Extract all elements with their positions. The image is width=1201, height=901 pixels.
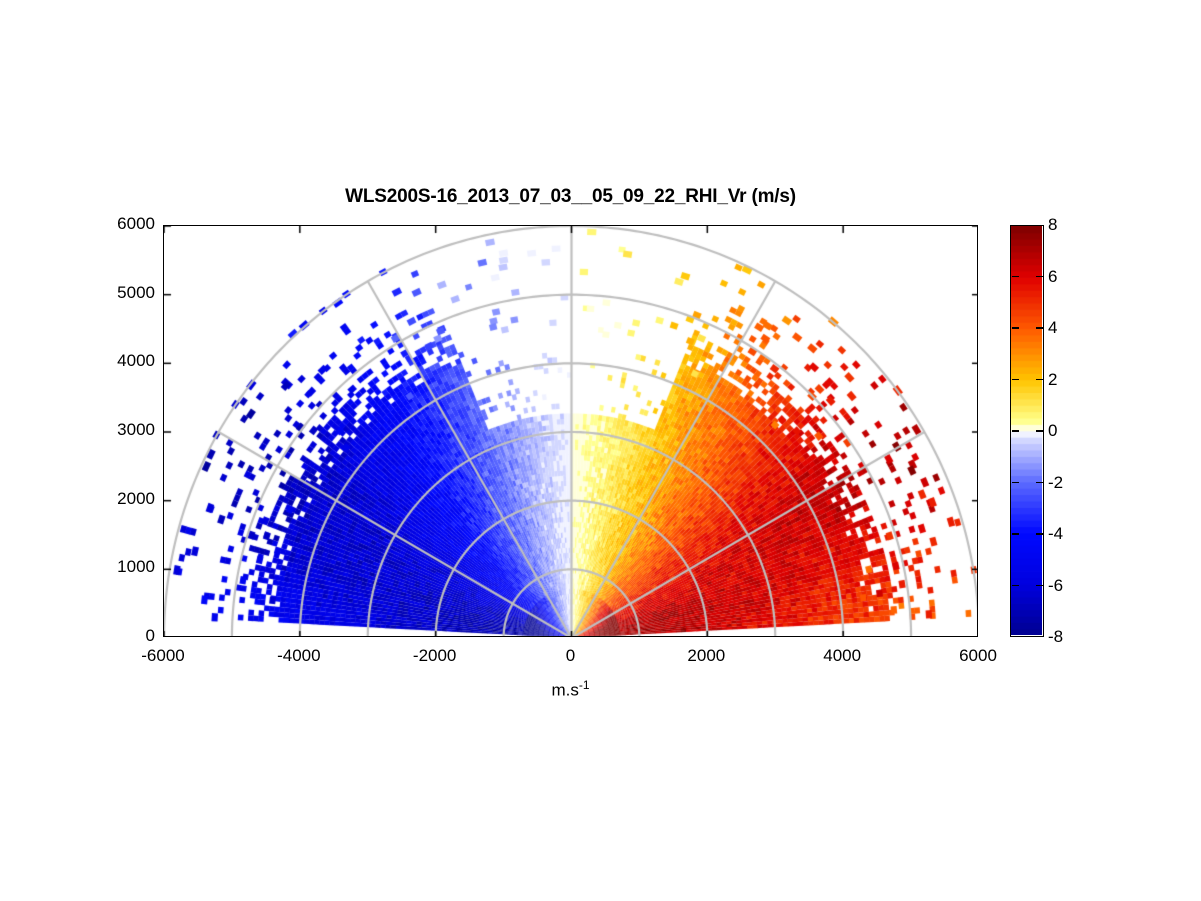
colorbar-tick-mark	[1012, 482, 1019, 484]
colorbar-tick-mark	[1036, 430, 1043, 432]
y-tick-label: 4000	[91, 351, 155, 371]
y-tick-label: 6000	[91, 214, 155, 234]
colorbar-tick-label: 2	[1048, 370, 1057, 390]
colorbar-tick-mark	[1012, 276, 1019, 278]
colorbar-tick-mark	[1012, 533, 1019, 535]
x-tick-label: 2000	[646, 646, 766, 666]
x-tick-label: -4000	[239, 646, 359, 666]
colorbar-tick-label: -4	[1048, 524, 1063, 544]
x-tick-label: 4000	[782, 646, 902, 666]
colorbar-tick-label: -8	[1048, 627, 1063, 647]
y-tick-label: 1000	[91, 557, 155, 577]
x-axis-title-exponent: -1	[579, 678, 590, 692]
colorbar[interactable]: -8-6-4-202468	[1010, 225, 1044, 637]
page-title: WLS200S-16_2013_07_03__05_09_22_RHI_Vr (…	[163, 186, 978, 208]
y-tick-label: 0	[91, 626, 155, 646]
x-axis-title-text: m.s	[551, 681, 578, 700]
colorbar-tick-label: -6	[1048, 576, 1063, 596]
colorbar-tick-label: 8	[1048, 215, 1057, 235]
figure-canvas: WLS200S-16_2013_07_03__05_09_22_RHI_Vr (…	[0, 0, 1201, 901]
colorbar-tick-mark	[1012, 430, 1019, 432]
colorbar-tick-mark	[1036, 276, 1043, 278]
y-tick-label: 3000	[91, 420, 155, 440]
x-tick-label: -2000	[375, 646, 495, 666]
colorbar-tick-mark	[1036, 482, 1043, 484]
colorbar-tick-label: -2	[1048, 473, 1063, 493]
colorbar-tick-label: 4	[1048, 318, 1057, 338]
colorbar-tick-mark	[1012, 327, 1019, 329]
colorbar-tick-mark	[1012, 585, 1019, 587]
x-tick-label: 6000	[918, 646, 1038, 666]
x-tick-label: 0	[511, 646, 631, 666]
rhi-scan-heatmap	[164, 226, 978, 637]
polar-rhi-plot-area[interactable]	[163, 225, 978, 637]
colorbar-tick-mark	[1036, 533, 1043, 535]
y-tick-label: 5000	[91, 283, 155, 303]
colorbar-tick-mark	[1036, 327, 1043, 329]
colorbar-tick-mark	[1036, 379, 1043, 381]
colorbar-tick-label: 6	[1048, 267, 1057, 287]
x-axis-title: m.s-1	[163, 678, 978, 701]
y-tick-label: 2000	[91, 489, 155, 509]
colorbar-tick-label: 0	[1048, 421, 1057, 441]
colorbar-tick-mark	[1036, 585, 1043, 587]
x-tick-label: -6000	[103, 646, 223, 666]
colorbar-tick-mark	[1012, 379, 1019, 381]
